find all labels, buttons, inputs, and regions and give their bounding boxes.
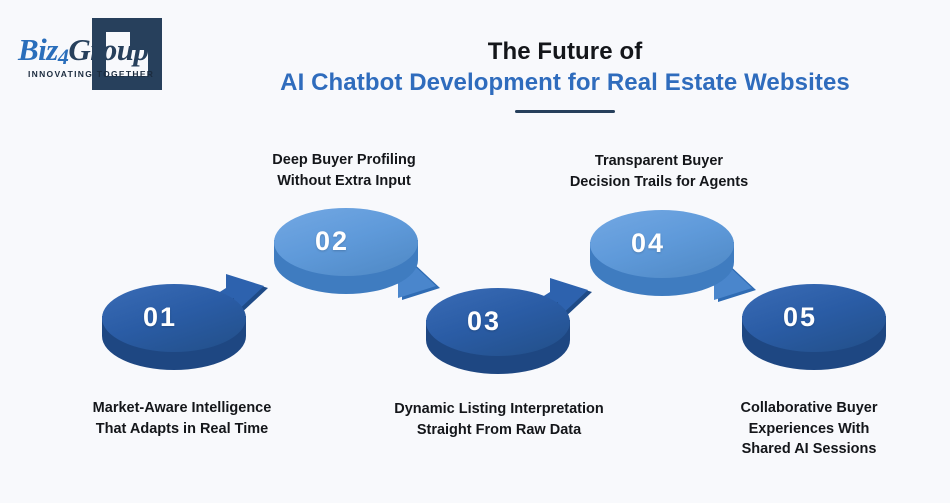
step-disc-01[interactable]: 01 (96, 264, 296, 384)
page-title-line-2: AI Chatbot Development for Real Estate W… (185, 68, 945, 98)
brand-logo[interactable]: Biz4Group INNOVATING TOGETHER (18, 18, 178, 90)
title-divider (515, 110, 615, 113)
disc-wrap-01: 01 (96, 264, 296, 384)
logo-text-group: Group (68, 32, 148, 67)
header-block: The Future of AI Chatbot Development for… (185, 38, 945, 113)
logo-text-biz: Biz (18, 32, 58, 67)
infographic-canvas: Biz4Group INNOVATING TOGETHER The Future… (0, 0, 950, 503)
step-disc-05[interactable]: 05 (738, 280, 898, 385)
logo-tagline: INNOVATING TOGETHER (28, 69, 154, 79)
step-caption-04: Transparent Buyer Decision Trails for Ag… (538, 151, 780, 192)
step-caption-01: Market-Aware Intelligence That Adapts in… (46, 398, 318, 439)
page-title-line-1: The Future of (185, 38, 945, 66)
disc-wrap-05: 05 (738, 280, 898, 385)
disc-shape-01 (96, 264, 296, 384)
step-caption-05: Collaborative Buyer Experiences With Sha… (698, 398, 920, 460)
step-caption-02: Deep Buyer Profiling Without Extra Input (233, 150, 455, 191)
logo-wordmark: Biz4Group (18, 34, 149, 68)
logo-text-four: 4 (58, 44, 69, 69)
step-caption-03: Dynamic Listing Interpretation Straight … (353, 399, 645, 440)
disc-shape-05 (738, 280, 898, 385)
